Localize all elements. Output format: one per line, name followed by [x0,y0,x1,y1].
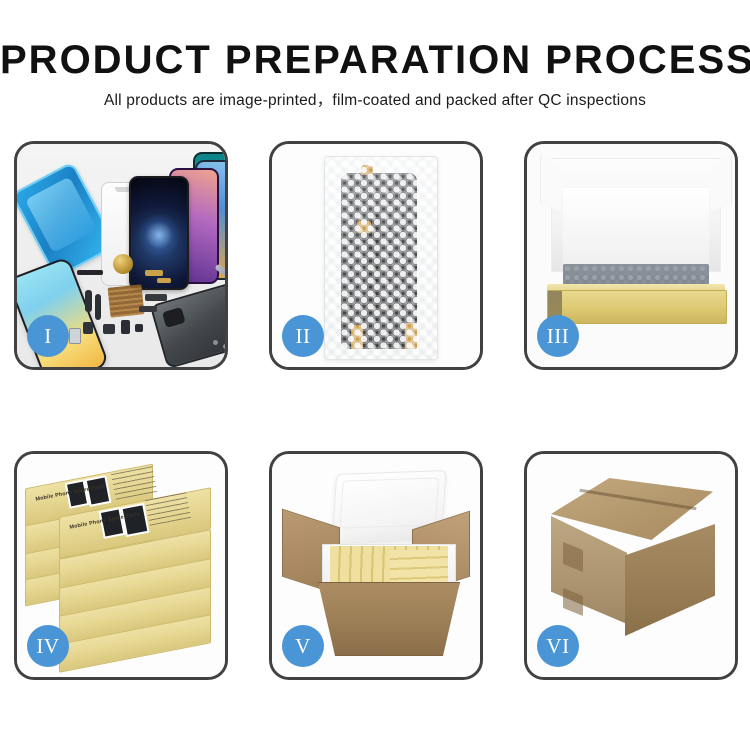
small-part-graphic [77,270,103,275]
kraft-box-base [547,290,727,324]
step-badge-2: II [282,315,324,357]
carton-body [318,582,460,656]
small-part-graphic [145,294,167,301]
foam-back-panel [563,188,709,264]
product-preparation-page: PRODUCT PREPARATION PROCESS All products… [0,0,750,750]
small-part-graphic [83,322,93,334]
small-part-graphic [145,270,163,276]
bubble-texture-highlights [325,157,437,359]
small-part-graphic [85,290,92,312]
step-panel-3: III [524,141,738,370]
step-panel-6: VI [524,451,738,680]
step-badge-3: III [537,315,579,357]
small-part-graphic [139,306,157,312]
yellow-boxes-row [390,550,448,584]
step-panel-2: II [269,141,483,370]
small-part-graphic [69,328,81,344]
step-badge-6: VI [537,625,579,667]
small-part-graphic [157,278,171,283]
process-steps-grid: I II [0,0,750,750]
step-panel-4: Mobile Phone Spare Parts Mobile Phone Sp… [14,451,228,680]
step-badge-4: IV [27,625,69,667]
step-badge-5: V [282,625,324,667]
step-panel-5: V [269,451,483,680]
small-part-graphic [103,324,115,334]
small-part-graphic [121,320,130,334]
small-part-graphic [135,324,143,332]
screw-graphic [213,340,218,345]
bubble-wrap-package [324,156,438,360]
logic-board-graphic [108,284,145,317]
screw-graphic [223,344,225,349]
small-part-graphic [95,294,101,320]
step-badge-1: I [27,315,69,357]
speaker-coil-graphic [113,254,133,274]
step-panel-1: I [14,141,228,370]
